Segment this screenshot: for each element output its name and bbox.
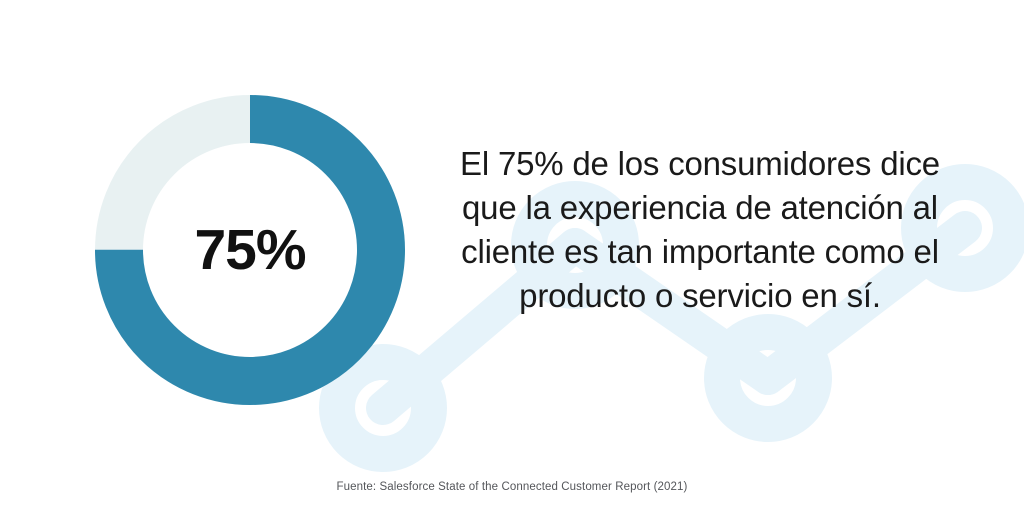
headline-line-3: cliente es tan importante como el (440, 230, 960, 274)
infographic-canvas: 75% El 75% de los consumidores dice que … (0, 0, 1024, 512)
donut-chart: 75% (95, 95, 405, 405)
source-caption: Fuente: Salesforce State of the Connecte… (0, 481, 1024, 493)
headline-line-4: producto o servicio en sí. (440, 274, 960, 318)
headline-line-2: que la experiencia de atención al (440, 186, 960, 230)
headline-text: El 75% de los consumidores dice que la e… (440, 142, 960, 318)
donut-center-value: 75% (95, 95, 405, 405)
headline-line-1: El 75% de los consumidores dice (440, 142, 960, 186)
